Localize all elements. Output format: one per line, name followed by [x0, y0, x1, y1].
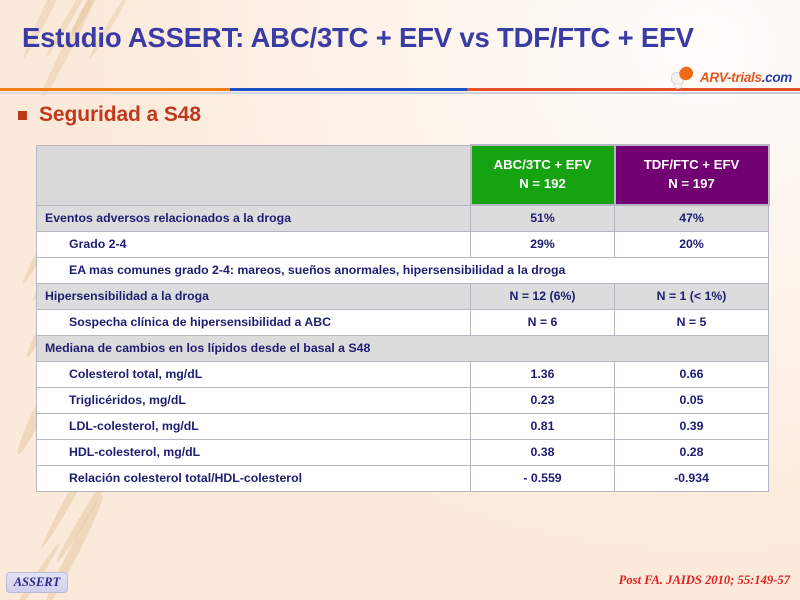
- table-row: Hipersensibilidad a la drogaN = 12 (6%)N…: [37, 283, 769, 309]
- pill-capsule-icon: [669, 65, 697, 89]
- table-row: Eventos adversos relacionados a la droga…: [37, 205, 769, 231]
- table-cell-arm2-value: 0.66: [615, 361, 769, 387]
- table-row: EA mas comunes grado 2-4: mareos, sueños…: [37, 257, 769, 283]
- table-header-arm1: ABC/3TC + EFV N = 192: [471, 145, 615, 205]
- table-row: HDL-colesterol, mg/dL0.380.28: [37, 439, 769, 465]
- table-cell-arm1-value: N = 6: [471, 309, 615, 335]
- divider-segment-orange-left: [0, 88, 230, 91]
- table-cell-label: Mediana de cambios en los lípidos desde …: [37, 335, 769, 361]
- citation-reference: Post FA. JAIDS 2010; 55:149-57: [619, 573, 790, 588]
- logo-text-suffix: .com: [762, 70, 792, 85]
- table-cell-label: HDL-colesterol, mg/dL: [37, 439, 471, 465]
- table-cell-label: Sospecha clínica de hipersensibilidad a …: [37, 309, 471, 335]
- table-header-arm2-n: N = 197: [622, 175, 762, 194]
- table-cell-label: Colesterol total, mg/dL: [37, 361, 471, 387]
- table-cell-label: Eventos adversos relacionados a la droga: [37, 205, 471, 231]
- table-cell-arm2-value: -0.934: [615, 465, 769, 491]
- bullet-square-icon: [18, 111, 27, 120]
- section-heading-label: Seguridad a S48: [39, 103, 201, 127]
- divider-segment-blue: [230, 88, 467, 91]
- table-cell-label: EA mas comunes grado 2-4: mareos, sueños…: [37, 257, 769, 283]
- table-row: Sospecha clínica de hipersensibilidad a …: [37, 309, 769, 335]
- safety-table-container: ABC/3TC + EFV N = 192 TDF/FTC + EFV N = …: [36, 144, 768, 492]
- table-cell-label: Grado 2-4: [37, 231, 471, 257]
- table-cell-arm2-value: 47%: [615, 205, 769, 231]
- table-cell-arm1-value: 1.36: [471, 361, 615, 387]
- table-row: Mediana de cambios en los lípidos desde …: [37, 335, 769, 361]
- table-cell-arm2-value: N = 1 (< 1%): [615, 283, 769, 309]
- table-cell-arm2-value: 0.28: [615, 439, 769, 465]
- page-title: Estudio ASSERT: ABC/3TC + EFV vs TDF/FTC…: [22, 22, 694, 54]
- safety-table: ABC/3TC + EFV N = 192 TDF/FTC + EFV N = …: [36, 144, 770, 492]
- table-header-arm2-label: TDF/FTC + EFV: [622, 156, 762, 175]
- table-cell-arm1-value: 29%: [471, 231, 615, 257]
- divider-segment-grey: [0, 92, 800, 94]
- table-header-row: ABC/3TC + EFV N = 192 TDF/FTC + EFV N = …: [37, 145, 769, 205]
- table-cell-arm2-value: 20%: [615, 231, 769, 257]
- table-row: Colesterol total, mg/dL1.360.66: [37, 361, 769, 387]
- table-cell-arm2-value: N = 5: [615, 309, 769, 335]
- table-header-arm2: TDF/FTC + EFV N = 197: [615, 145, 769, 205]
- table-cell-arm1-value: 0.38: [471, 439, 615, 465]
- table-cell-arm1-value: 51%: [471, 205, 615, 231]
- table-cell-arm1-value: 0.23: [471, 387, 615, 413]
- table-cell-arm2-value: 0.05: [615, 387, 769, 413]
- table-body: Eventos adversos relacionados a la droga…: [37, 205, 769, 491]
- table-header-blank: [37, 145, 471, 205]
- table-row: Grado 2-429%20%: [37, 231, 769, 257]
- table-header-arm1-label: ABC/3TC + EFV: [478, 156, 608, 175]
- table-cell-label: Hipersensibilidad a la droga: [37, 283, 471, 309]
- table-cell-label: Relación colesterol total/HDL-colesterol: [37, 465, 471, 491]
- logo-text-primary: ARV-trials: [700, 70, 762, 85]
- slide-canvas: Estudio ASSERT: ABC/3TC + EFV vs TDF/FTC…: [0, 0, 800, 600]
- table-cell-arm1-value: 0.81: [471, 413, 615, 439]
- arv-trials-logo: ARV-trials.com: [669, 64, 792, 90]
- table-cell-arm1-value: N = 12 (6%): [471, 283, 615, 309]
- assert-badge: ASSERT: [6, 572, 68, 593]
- table-row: Relación colesterol total/HDL-colesterol…: [37, 465, 769, 491]
- table-row: Triglicéridos, mg/dL0.230.05: [37, 387, 769, 413]
- table-cell-label: Triglicéridos, mg/dL: [37, 387, 471, 413]
- table-cell-label: LDL-colesterol, mg/dL: [37, 413, 471, 439]
- table-cell-arm1-value: - 0.559: [471, 465, 615, 491]
- table-row: LDL-colesterol, mg/dL0.810.39: [37, 413, 769, 439]
- section-heading: Seguridad a S48: [18, 103, 201, 127]
- logo-text: ARV-trials.com: [700, 70, 792, 85]
- table-cell-arm2-value: 0.39: [615, 413, 769, 439]
- table-header-arm1-n: N = 192: [478, 175, 608, 194]
